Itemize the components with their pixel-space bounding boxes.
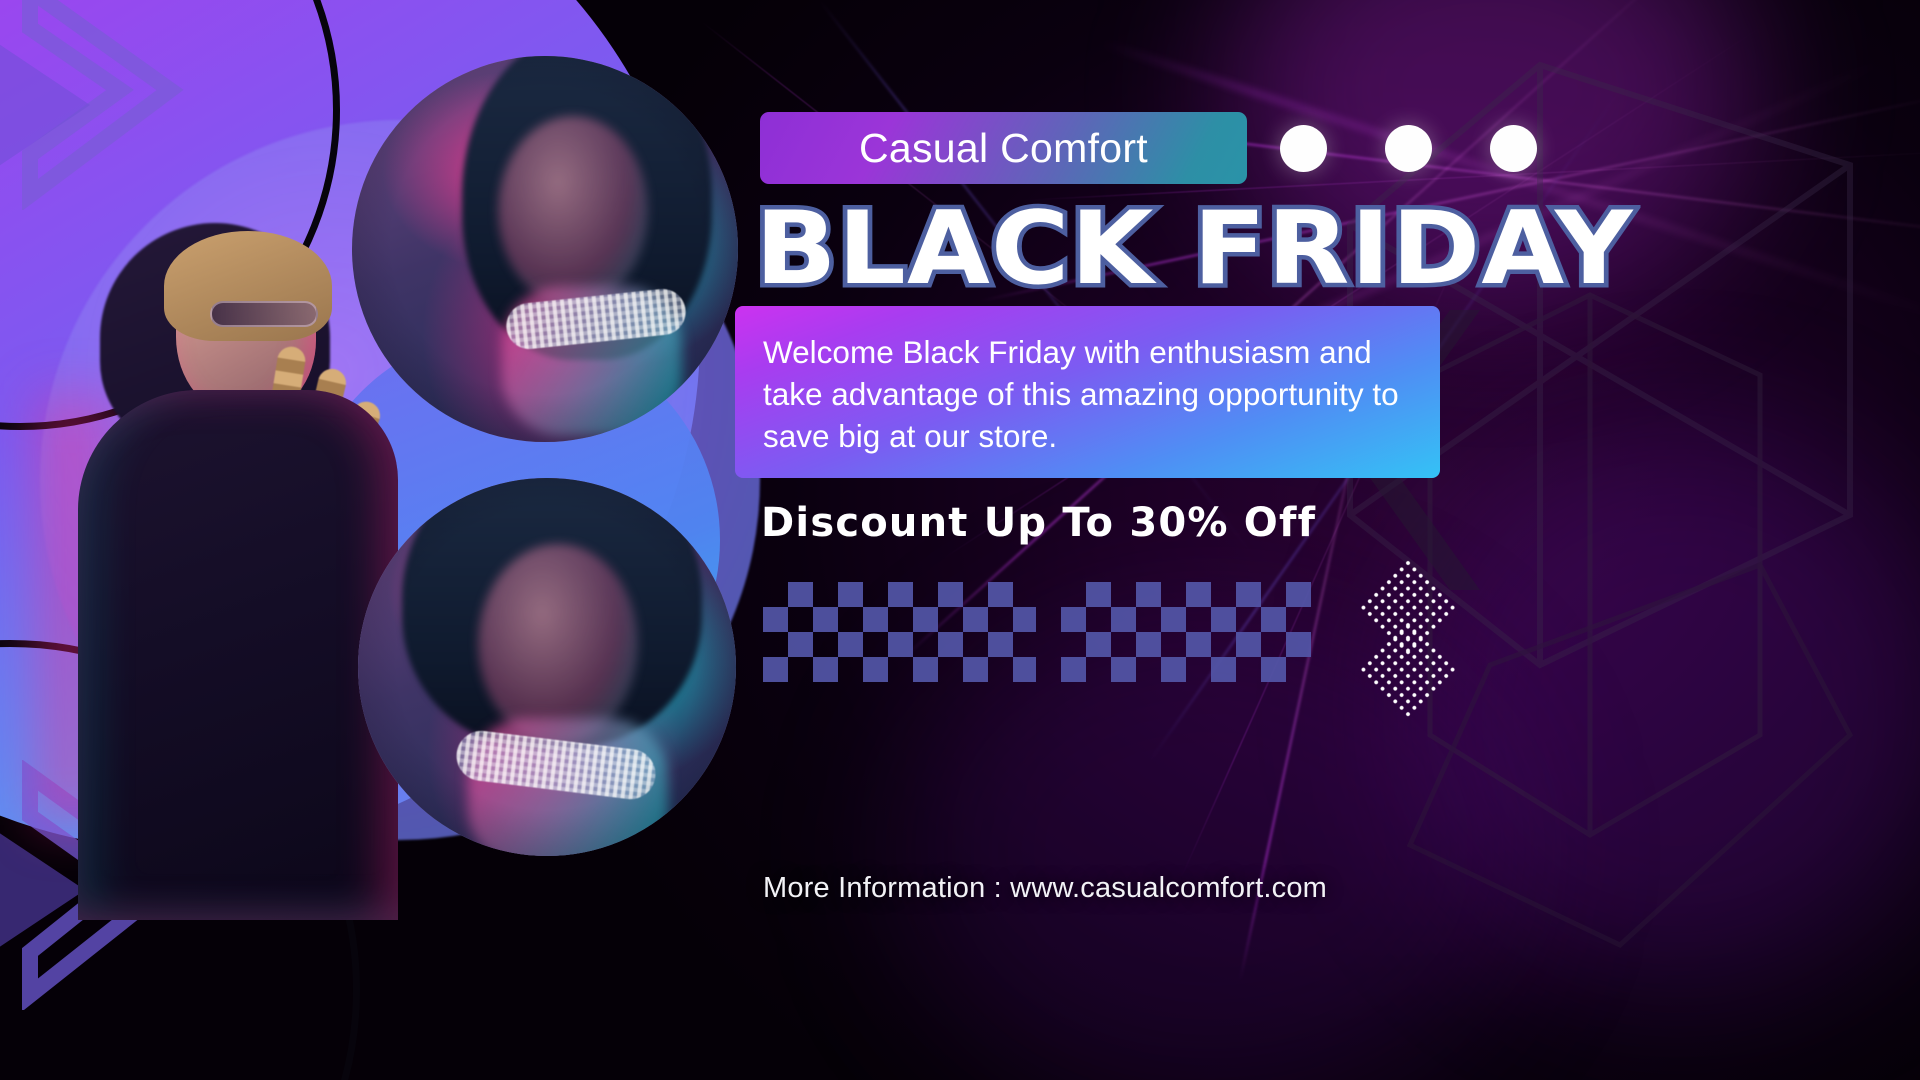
description-panel: Welcome Black Friday with enthusiasm and… <box>735 306 1440 478</box>
more-information-text[interactable]: More Information : www.casualcomfort.com <box>763 872 1327 905</box>
checkerboard-pattern-left <box>763 582 1036 682</box>
white-dot-icon <box>1490 125 1537 172</box>
discount-headline: Discount Up To 30% Off <box>761 500 1316 546</box>
dot-decoration-row <box>1280 125 1537 172</box>
brand-badge[interactable]: Casual Comfort <box>760 112 1247 184</box>
main-headline: BLACK FRIDAY <box>755 198 1920 299</box>
white-dot-icon <box>1280 125 1327 172</box>
model-portrait-lower <box>358 478 736 856</box>
description-text: Welcome Black Friday with enthusiasm and… <box>763 332 1403 458</box>
halftone-diamond-bottom <box>1356 619 1461 724</box>
content-column: Casual Comfort BLACK FRIDAY Welcome Blac… <box>755 0 1920 1080</box>
checkerboard-pattern-right <box>1061 582 1311 682</box>
white-dot-icon <box>1385 125 1432 172</box>
brand-badge-label: Casual Comfort <box>859 125 1148 172</box>
model-portrait-upper <box>352 56 738 442</box>
promo-banner: Casual Comfort BLACK FRIDAY Welcome Blac… <box>0 0 1920 1080</box>
